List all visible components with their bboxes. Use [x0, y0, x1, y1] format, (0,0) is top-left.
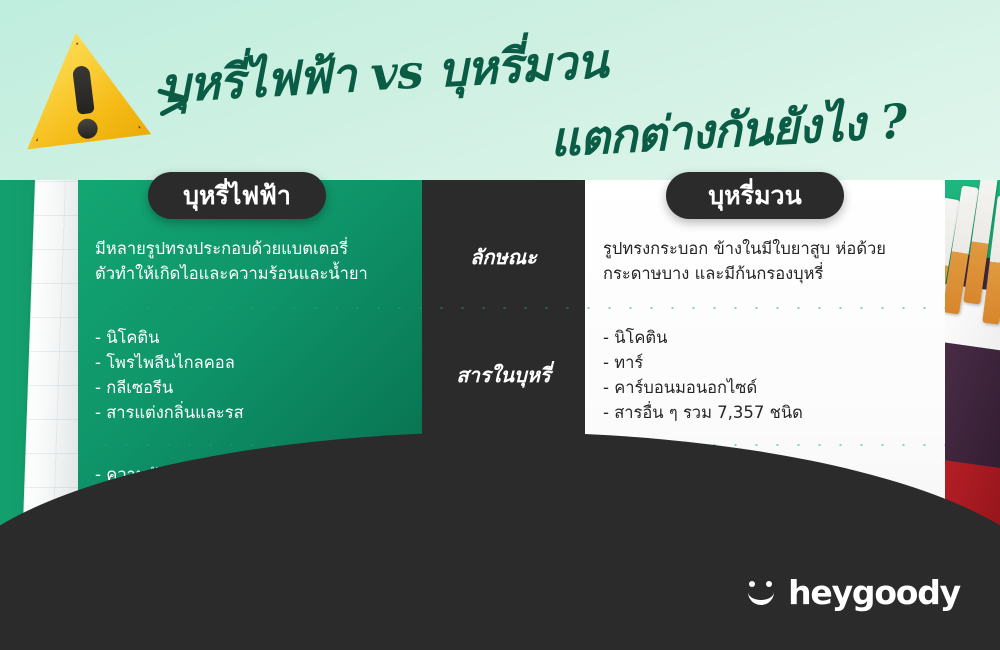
brand-logo: heygoody — [746, 572, 960, 612]
row-2-right-cell: - นิโคติน- ทาร์- คาร์บอนมอนอกไซด์- สารอื… — [603, 325, 938, 425]
row-1-right-text: รูปทรงกระบอก ข้างในมีใบยาสูบ ห่อด้วยกระด… — [603, 236, 938, 286]
infographic-canvas: บุหรี่ไฟฟ้า vs บุหรี่มวน แตกต่างกันยังไง… — [0, 0, 1000, 650]
smiley-face-icon — [746, 577, 777, 608]
list-item: - นิโคติน — [95, 325, 415, 350]
row-2-label: สารในบุหรี่ — [422, 362, 585, 389]
row-1-label: ลักษณะ — [422, 244, 585, 271]
row-1-left-cell: มีหลายรูปทรงประกอบด้วยแบตเตอรี่ตัวทำให้เ… — [95, 236, 415, 286]
header-pill-cigarette: บุหรี่มวน — [666, 172, 844, 219]
row-2-right-list: - นิโคติน- ทาร์- คาร์บอนมอนอกไซด์- สารอื… — [603, 325, 938, 425]
row-1-left-text: มีหลายรูปทรงประกอบด้วยแบตเตอรี่ตัวทำให้เ… — [95, 236, 415, 286]
warning-triangle-icon — [11, 23, 155, 160]
row-1-right-cell: รูปทรงกระบอก ข้างในมีใบยาสูบ ห่อด้วยกระด… — [603, 236, 938, 286]
list-item: - นิโคติน — [603, 325, 938, 350]
list-item: - ทาร์ — [603, 350, 938, 375]
row-2-left-cell: - นิโคติน- โพรไพลีนไกลคอล- กลีเซอรีน- สา… — [95, 325, 415, 425]
list-item: - สารอื่น ๆ รวม 7,357 ชนิด — [603, 400, 938, 425]
title-block: บุหรี่ไฟฟ้า vs บุหรี่มวน แตกต่างกันยังไง… — [150, 40, 980, 160]
list-item: - คาร์บอนมอนอกไซด์ — [603, 375, 938, 400]
list-item: - สารแต่งกลิ่นและรส — [95, 400, 415, 425]
list-item: - กลีเซอรีน — [95, 375, 415, 400]
row-divider-1 — [95, 306, 945, 310]
header-pill-ecigarette: บุหรี่ไฟฟ้า — [148, 172, 326, 219]
brand-name: heygoody — [788, 576, 960, 609]
list-item: - โพรไพลีนไกลคอล — [95, 350, 415, 375]
row-2-left-list: - นิโคติน- โพรไพลีนไกลคอล- กลีเซอรีน- สา… — [95, 325, 415, 425]
